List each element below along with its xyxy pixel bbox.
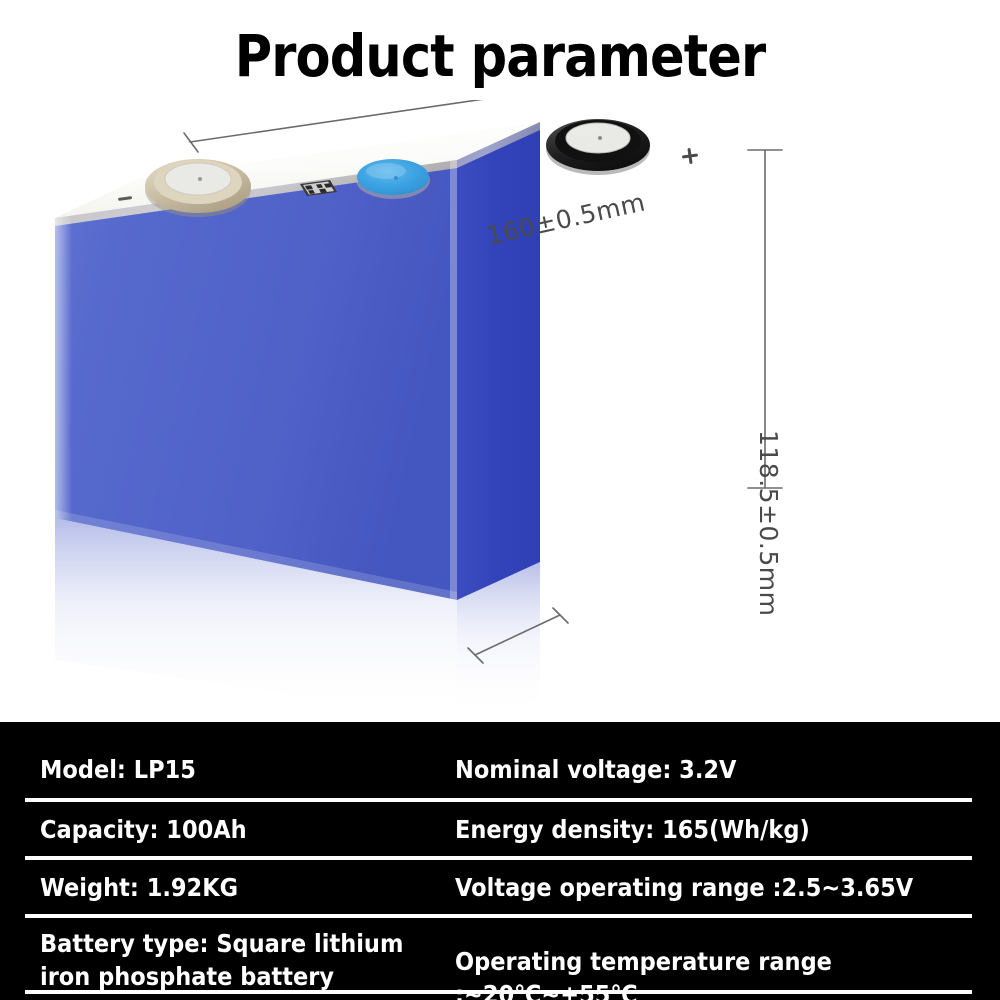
spec-operating-temperature-range: Operating temperature range :~20℃~+55℃ xyxy=(455,946,920,1000)
page-title: Product parameter xyxy=(60,22,940,90)
product-illustration: 160±0.5mm 118.5±0.5mm 49.9±0.5mm xyxy=(0,100,1000,720)
specification-table: Model: LP15 Nominal voltage: 3.2V Capaci… xyxy=(0,722,1000,1000)
spec-battery-type: Battery type: Square lithium iron phosph… xyxy=(40,928,403,993)
table-row: Model: LP15 Nominal voltage: 3.2V xyxy=(25,740,972,802)
spec-energy-density: Energy density: 165(Wh/kg) xyxy=(455,814,810,847)
table-row: Weight: 1.92KG Voltage operating range :… xyxy=(25,860,972,918)
spec-model: Model: LP15 xyxy=(40,754,196,787)
dimension-label-height: 118.5±0.5mm xyxy=(754,430,783,616)
negative-terminal xyxy=(145,159,251,217)
positive-terminal xyxy=(546,119,650,175)
vent-disc xyxy=(356,159,430,199)
table-row: Battery type: Square lithium iron phosph… xyxy=(25,918,972,994)
spec-weight: Weight: 1.92KG xyxy=(40,872,238,905)
spec-capacity: Capacity: 100Ah xyxy=(40,814,247,847)
positive-polarity-mark xyxy=(681,147,699,165)
spec-voltage-operating-range: Voltage operating range :2.5~3.65V xyxy=(455,872,913,905)
spec-nominal-voltage: Nominal voltage: 3.2V xyxy=(455,754,736,787)
battery-left-edge-highlight xyxy=(55,215,72,521)
table-row: Capacity: 100Ah Energy density: 165(Wh/k… xyxy=(25,802,972,860)
product-parameter-page: Product parameter xyxy=(0,0,1000,1000)
battery-cell-drawing xyxy=(0,100,1000,720)
battery-side-face xyxy=(457,122,540,600)
battery-body xyxy=(55,122,540,601)
